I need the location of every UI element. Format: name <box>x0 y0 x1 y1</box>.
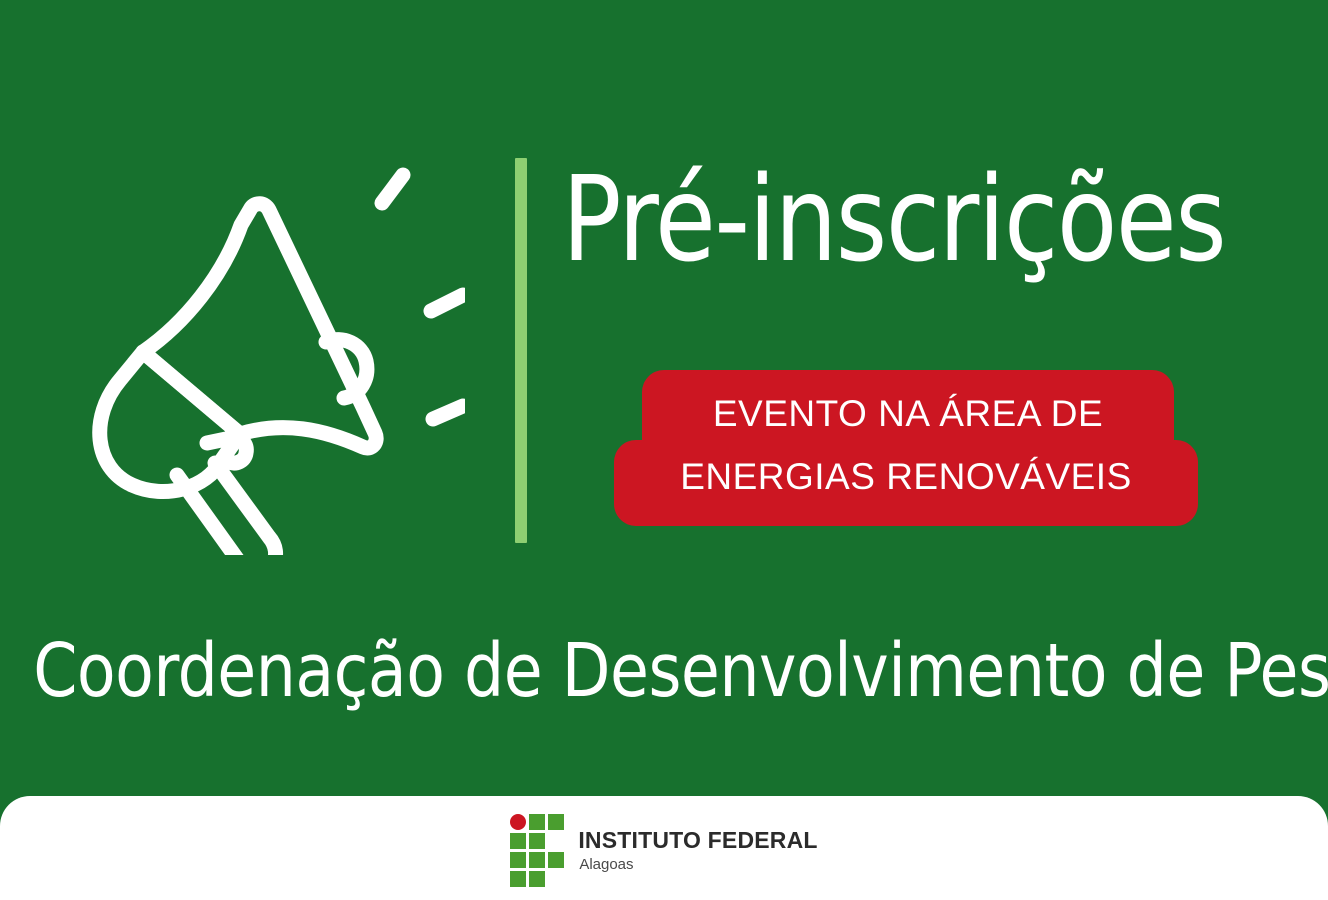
event-badge-line-2: ENERGIAS RENOVÁVEIS <box>614 440 1198 526</box>
logo-cell-dot <box>510 814 526 830</box>
logo-cell <box>529 871 545 887</box>
logo-cell <box>510 852 526 868</box>
event-badge: EVENTO NA ÁREA DE ENERGIAS RENOVÁVEIS <box>614 370 1214 530</box>
logo-cell-empty <box>548 871 564 887</box>
ifal-logo-mark <box>510 814 564 887</box>
poster-root: Pré-inscrições EVENTO NA ÁREA DE ENERGIA… <box>0 0 1328 900</box>
headline-column: Pré-inscrições EVENTO NA ÁREA DE ENERGIA… <box>552 160 1252 550</box>
logo-cell <box>529 833 545 849</box>
logo-cell <box>510 871 526 887</box>
megaphone-icon <box>55 145 465 555</box>
logo-cell <box>529 814 545 830</box>
event-badge-line-1: EVENTO NA ÁREA DE <box>642 370 1174 442</box>
megaphone-icon-glyph <box>55 145 465 555</box>
ifal-campus-name: Alagoas <box>579 857 817 872</box>
logo-cell <box>510 833 526 849</box>
logo-cell <box>548 814 564 830</box>
ifal-institution-name: INSTITUTO FEDERAL <box>578 829 817 852</box>
vertical-divider <box>515 158 527 543</box>
ifal-logo-text: INSTITUTO FEDERAL Alagoas <box>578 829 817 872</box>
sound-wave-1 <box>382 175 403 203</box>
sound-wave-2 <box>431 295 463 311</box>
sound-wave-3 <box>433 406 463 419</box>
logo-cell-empty <box>548 833 564 849</box>
page-title: Pré-inscrições <box>562 160 1225 278</box>
logo-cell <box>548 852 564 868</box>
logo-cell <box>529 852 545 868</box>
ifal-logo: INSTITUTO FEDERAL Alagoas <box>510 814 817 887</box>
page-subtitle: Coordenação de Desenvolvimento de Pessoa… <box>33 628 1295 714</box>
footer-panel: INSTITUTO FEDERAL Alagoas <box>0 796 1328 900</box>
